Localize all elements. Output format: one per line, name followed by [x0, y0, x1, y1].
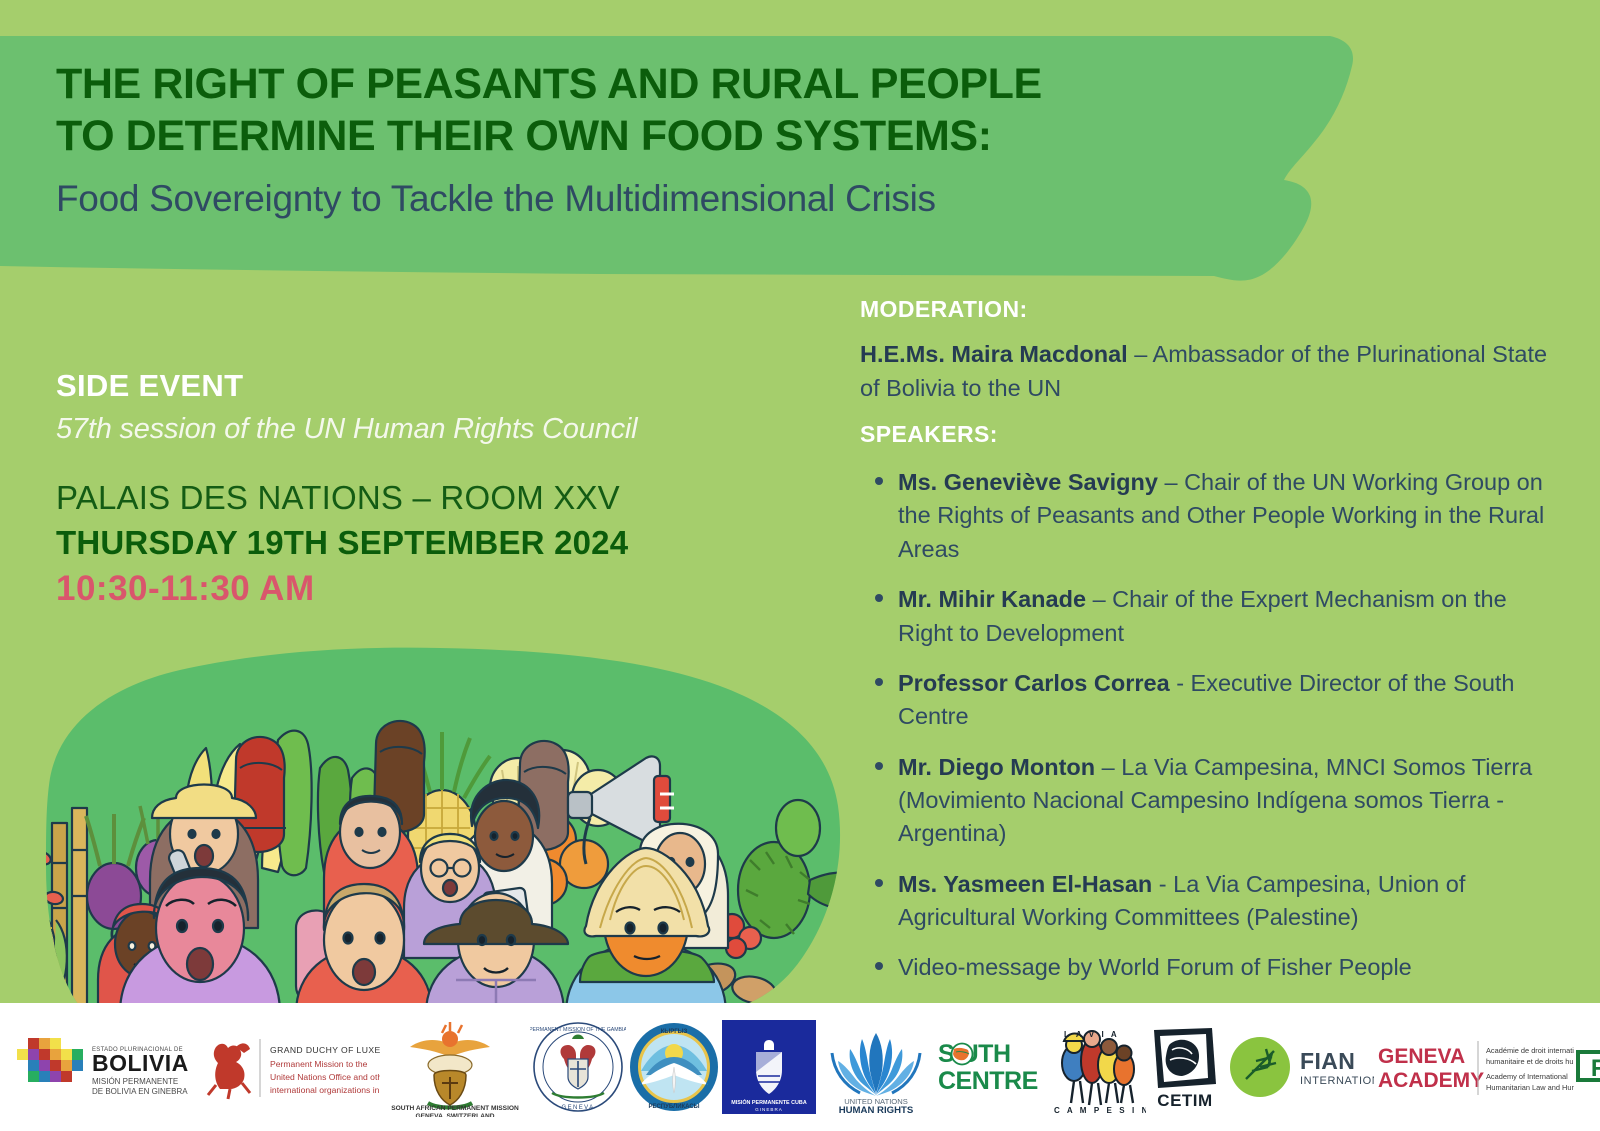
poster-title-line-2: TO DETERMINE THEIR OWN FOOD SYSTEMS:: [56, 110, 1296, 162]
logo-un-human-rights-line3: OFFICE OF THE HIGH COMMISSIONER: [837, 1116, 915, 1117]
poster-subtitle: Food Sovereignty to Tackle the Multidime…: [56, 177, 1296, 221]
logo-geneva-academy: GENEVA ACADEMY Académie de droit interna…: [1374, 1015, 1574, 1119]
speakers-heading: SPEAKERS:: [860, 421, 1560, 448]
logo-cuba: MISIÓN PERMANENTE CUBA GINEBRA: [722, 1015, 816, 1119]
bullet-icon: [875, 678, 883, 686]
logo-luxembourg-line2: Permanent Mission to the: [270, 1059, 368, 1069]
program-block: MODERATION: H.E.Ms. Maira Macdonal – Amb…: [860, 296, 1560, 1002]
logo-gambia-line2: GENEVA: [562, 1105, 595, 1111]
logo-raise: RAISE: [1574, 1015, 1600, 1119]
logo-kyrgyzstan-line1: КЫРГЫЗ: [661, 1029, 688, 1035]
logo-fian-line1: FIAN: [1300, 1048, 1355, 1074]
session-line: 57th session of the UN Human Rights Coun…: [56, 413, 836, 446]
logo-geneva-academy-line1: GENEVA: [1378, 1045, 1465, 1068]
logo-fian-line2: INTERNATIONAL: [1300, 1075, 1374, 1087]
gambia-seal-icon: PERMANENT MISSION OF THE GAMBIA GENEVA: [530, 1023, 626, 1111]
logo-kyrgyzstan: КЫРГЫЗ РЕСПУБЛИКАСЫ: [626, 1015, 722, 1119]
logo-geneva-academy-line4: humanitaire et de droits humains: [1486, 1057, 1574, 1066]
logo-geneva-academy-line2: ACADEMY: [1378, 1069, 1484, 1092]
logo-bolivia-line3: MISIÓN PERMANENTE: [92, 1077, 178, 1086]
bullet-icon: [875, 477, 883, 485]
logo-un-human-rights-line2: HUMAN RIGHTS: [839, 1105, 914, 1116]
wiphala-icon: [17, 1038, 83, 1082]
poster-title-line-1: THE RIGHT OF PEASANTS AND RURAL PEOPLE: [56, 58, 1296, 110]
logo-geneva-academy-line5: Academy of International: [1486, 1072, 1568, 1081]
bullet-icon: [875, 594, 883, 602]
event-info-block: SIDE EVENT 57th session of the UN Human …: [56, 368, 836, 609]
logo-gambia: PERMANENT MISSION OF THE GAMBIA GENEVA: [530, 1015, 626, 1119]
speaker-name: Ms. Geneviève Savigny: [898, 469, 1158, 495]
un-human-rights-icon: [830, 1033, 922, 1096]
logo-fian: FIAN INTERNATIONAL: [1224, 1015, 1374, 1119]
logo-luxembourg-line3: United Nations Office and other: [270, 1072, 380, 1082]
logo-geneva-academy-line6: Humanitarian Law and Human Rights: [1486, 1083, 1574, 1092]
logo-bolivia-line2: BOLIVIA: [92, 1050, 189, 1076]
logo-luxembourg-line4: international organizations in Geneva: [270, 1085, 380, 1095]
list-item: Mr. Mihir Kanade – Chair of the Expert M…: [860, 583, 1560, 650]
logo-bolivia-line4: DE BOLIVIA EN GINEBRA: [92, 1087, 188, 1096]
logo-cetim: CETIM: [1146, 1015, 1224, 1119]
speaker-name: Mr. Diego Monton: [898, 754, 1095, 780]
time-line: 10:30-11:30 AM: [56, 569, 836, 609]
list-item: Professor Carlos Correa - Executive Dire…: [860, 667, 1560, 734]
partner-logo-bar: ESTADO PLURINACIONAL DE BOLIVIA MISIÓN P…: [0, 1003, 1600, 1131]
speaker-role: Video-message by World Forum of Fisher P…: [898, 954, 1412, 980]
poster-header: THE RIGHT OF PEASANTS AND RURAL PEOPLE T…: [56, 58, 1296, 221]
logo-luxembourg-line1: GRAND DUCHY OF LUXEMBOURG: [270, 1045, 380, 1055]
list-item: Mr. Diego Monton – La Via Campesina, MNC…: [860, 751, 1560, 851]
bullet-icon: [875, 962, 883, 970]
logo-bolivia: ESTADO PLURINACIONAL DE BOLIVIA MISIÓN P…: [10, 1015, 190, 1119]
date-line: THURSDAY 19TH SEPTEMBER 2024: [56, 524, 836, 562]
moderator-entry: H.E.Ms. Maira Macdonal – Ambassador of t…: [860, 337, 1560, 405]
logo-la-via-campesina-line2: C A M P E S I N A: [1054, 1106, 1146, 1115]
speaker-list: Ms. Geneviève Savigny – Chair of the UN …: [860, 466, 1560, 985]
side-event-label: SIDE EVENT: [56, 368, 836, 404]
logo-south-centre-line2: CENTRE: [938, 1067, 1038, 1095]
logo-south-centre-line1: S UTH: [938, 1040, 1011, 1068]
logo-south-africa-line2: GENEVA, SWITZERLAND: [415, 1113, 494, 1117]
peasants-crowd-illustration: [0, 628, 880, 1013]
speaker-name: Ms. Yasmeen El-Hasan: [898, 871, 1152, 897]
speaker-name: Mr. Mihir Kanade: [898, 586, 1086, 612]
list-item: Ms. Yasmeen El-Hasan - La Via Campesina,…: [860, 868, 1560, 935]
logo-cuba-line1: MISIÓN PERMANENTE CUBA: [731, 1098, 807, 1106]
venue-line: PALAIS DES NATIONS – ROOM XXV: [56, 479, 836, 517]
logo-cetim-line1: CETIM: [1157, 1091, 1212, 1110]
globe-icon: [952, 1044, 973, 1065]
logo-south-africa-line1: SOUTH AFRICAN PERMANENT MISSION: [391, 1105, 519, 1112]
logo-kyrgyzstan-line2: РЕСПУБЛИКАСЫ: [648, 1104, 699, 1110]
kyrgyzstan-emblem-icon: КЫРГЫЗ РЕСПУБЛИКАСЫ: [630, 1023, 718, 1111]
moderation-heading: MODERATION:: [860, 296, 1560, 323]
logo-raise-line1: RAISE: [1591, 1055, 1600, 1082]
bullet-icon: [875, 879, 883, 887]
logo-gambia-line1: PERMANENT MISSION OF THE GAMBIA: [530, 1027, 626, 1033]
logo-geneva-academy-line3: Académie de droit international: [1486, 1046, 1574, 1055]
bullet-icon: [875, 762, 883, 770]
logo-la-via-campesina: L A V I A C A M P E S I N A: [1046, 1015, 1146, 1119]
logo-south-centre: S UTH CENTRE: [936, 1015, 1046, 1119]
list-item: Ms. Geneviève Savigny – Chair of the UN …: [860, 466, 1560, 566]
lion-rampant-icon: [208, 1043, 250, 1099]
logo-la-via-campesina-line1: L A V I A: [1064, 1030, 1119, 1039]
moderator-name: H.E.Ms. Maira Macdonal: [860, 341, 1128, 367]
logo-cuba-line2: GINEBRA: [755, 1107, 783, 1112]
logo-un-human-rights: UNITED NATIONS HUMAN RIGHTS OFFICE OF TH…: [816, 1015, 936, 1119]
logo-south-africa: SOUTH AFRICAN PERMANENT MISSION GENEVA, …: [380, 1015, 530, 1119]
logo-luxembourg: GRAND DUCHY OF LUXEMBOURG Permanent Miss…: [190, 1015, 380, 1119]
speaker-name: Professor Carlos Correa: [898, 670, 1170, 696]
la-via-campesina-icon: [1062, 1031, 1134, 1105]
south-africa-coat-of-arms-icon: [410, 1022, 490, 1108]
cetim-icon: [1154, 1028, 1216, 1088]
list-item: Video-message by World Forum of Fisher P…: [860, 951, 1560, 984]
